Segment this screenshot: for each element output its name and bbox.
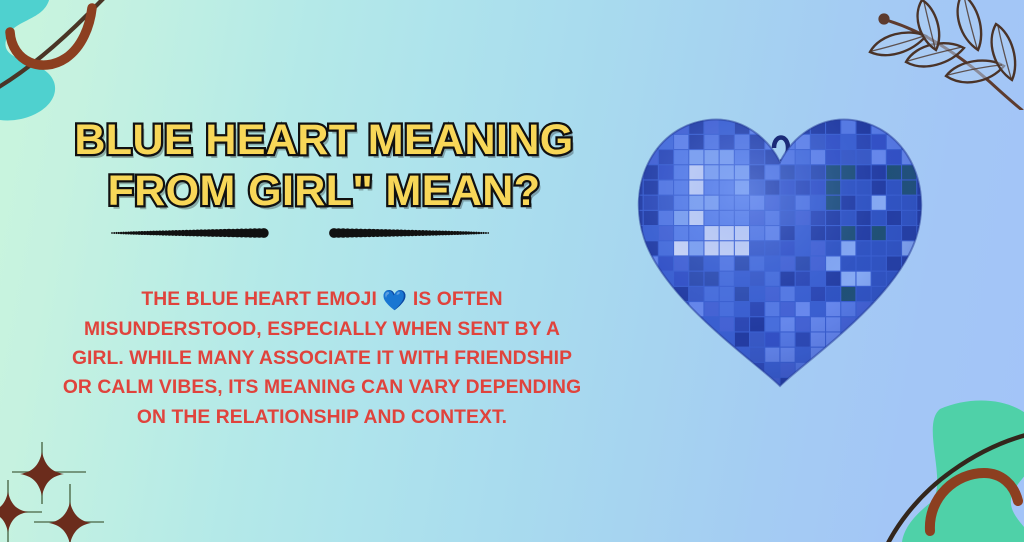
mosaic-tile xyxy=(629,105,643,119)
sparkle-shapes xyxy=(0,452,91,542)
mosaic-tile xyxy=(629,393,643,396)
heart-mosaic xyxy=(628,104,932,396)
mosaic-tile xyxy=(857,348,871,362)
brown-swoosh-thick xyxy=(10,8,92,65)
branch-stem xyxy=(886,20,1022,110)
mosaic-tile xyxy=(872,302,886,316)
sparkle-icon xyxy=(0,492,28,532)
mosaic-tile xyxy=(705,333,719,347)
mosaic-tile xyxy=(917,241,931,255)
mosaic-tile xyxy=(720,393,734,396)
mosaic-tile xyxy=(826,363,840,377)
mosaic-tile xyxy=(902,302,916,316)
mosaic-tile xyxy=(674,348,688,362)
mosaic-tile xyxy=(872,378,886,392)
mosaic-tile xyxy=(841,333,855,347)
mosaic-tile xyxy=(857,378,871,392)
mosaic-tile xyxy=(644,135,658,149)
mosaic-tile xyxy=(689,378,703,392)
mosaic-tile xyxy=(902,393,916,396)
mosaic-tile xyxy=(644,348,658,362)
decoration-bottom-right xyxy=(844,391,1024,542)
mosaic-tile xyxy=(735,363,749,377)
mosaic-tile xyxy=(796,105,810,119)
mosaic-tile xyxy=(629,302,643,316)
mosaic-tile xyxy=(659,333,673,347)
branch-leaves xyxy=(870,0,1015,82)
mosaic-tile xyxy=(902,378,916,392)
body-paragraph: THE BLUE HEART EMOJI 💙 IS OFTEN MISUNDER… xyxy=(62,285,582,432)
mosaic-tile xyxy=(917,105,931,119)
teal-blob-shape xyxy=(902,400,1024,542)
page-title: BLUE HEART MEANING FROM GIRL" MEAN? xyxy=(54,115,594,218)
mosaic-tile xyxy=(902,348,916,362)
mosaic-tile xyxy=(659,378,673,392)
divider-dots xyxy=(111,228,489,238)
mosaic-tile xyxy=(629,317,643,331)
mosaic-tile xyxy=(659,287,673,301)
mosaic-tile xyxy=(857,105,871,119)
mosaic-tile xyxy=(841,378,855,392)
mosaic-tile xyxy=(917,333,931,347)
mosaic-tile xyxy=(689,105,703,119)
mosaic-tile xyxy=(902,333,916,347)
mosaic-tile xyxy=(917,165,931,179)
mosaic-tile xyxy=(659,363,673,377)
mosaic-tile xyxy=(629,348,643,362)
mosaic-tile xyxy=(750,378,764,392)
branch-tip-dot xyxy=(878,13,889,24)
mosaic-tile xyxy=(872,393,886,396)
mosaic-tile xyxy=(917,348,931,362)
mosaic-tile xyxy=(872,363,886,377)
mosaic-tile xyxy=(872,317,886,331)
mosaic-tile xyxy=(765,105,779,119)
poster-canvas: BLUE HEART MEANING FROM GIRL" MEAN? THE … xyxy=(0,0,1024,542)
brown-swoosh-thin xyxy=(0,0,136,102)
mosaic-tile xyxy=(887,393,901,396)
mosaic-tile xyxy=(902,105,916,119)
mosaic-tile xyxy=(629,363,643,377)
mosaic-tile xyxy=(644,363,658,377)
mosaic-tile xyxy=(659,393,673,396)
mosaic-tile xyxy=(644,393,658,396)
mosaic-tile xyxy=(659,302,673,316)
mosaic-tile xyxy=(689,393,703,396)
blue-heart-emoji: 💙 xyxy=(382,291,407,311)
mosaic-tile xyxy=(674,378,688,392)
mosaic-tile xyxy=(705,348,719,362)
mosaic-tile xyxy=(917,135,931,149)
mosaic-tile xyxy=(629,135,643,149)
mosaic-tile xyxy=(841,348,855,362)
mosaic-tile xyxy=(796,378,810,392)
mosaic-tile xyxy=(644,120,658,134)
mosaic-tile xyxy=(674,317,688,331)
mosaic-tile xyxy=(629,150,643,164)
mosaic-tile xyxy=(811,378,825,392)
mosaic-tile xyxy=(917,150,931,164)
mosaic-tile xyxy=(735,105,749,119)
mosaic-tile xyxy=(644,378,658,392)
mosaic-tile xyxy=(735,378,749,392)
mosaic-tile xyxy=(841,105,855,119)
mosaic-tile xyxy=(902,272,916,286)
mosaic-tile xyxy=(826,105,840,119)
brown-swoosh-thick xyxy=(930,473,1018,531)
mosaic-tile xyxy=(917,120,931,134)
mosaic-tile xyxy=(735,393,749,396)
mosaic-tile xyxy=(841,363,855,377)
mosaic-tile xyxy=(902,317,916,331)
mosaic-tile xyxy=(887,302,901,316)
mosaic-tile xyxy=(765,120,779,134)
mosaic-tile xyxy=(674,333,688,347)
mosaic-tile xyxy=(750,105,764,119)
mosaic-tile xyxy=(629,333,643,347)
mosaic-tile xyxy=(705,393,719,396)
mosaic-tile xyxy=(781,393,795,396)
mosaic-tile xyxy=(872,348,886,362)
mosaic-tile xyxy=(689,333,703,347)
mosaic-tile xyxy=(902,135,916,149)
mosaic-tile xyxy=(887,317,901,331)
mosaic-tile xyxy=(841,393,855,396)
mosaic-tile xyxy=(902,363,916,377)
mosaic-tile xyxy=(644,333,658,347)
mosaic-tile xyxy=(629,272,643,286)
mosaic-tile xyxy=(674,302,688,316)
mosaic-tile xyxy=(826,378,840,392)
mosaic-tile xyxy=(659,317,673,331)
mosaic-tile xyxy=(629,257,643,271)
mosaic-tile xyxy=(811,105,825,119)
mosaic-tile xyxy=(857,363,871,377)
mosaic-tile xyxy=(917,363,931,377)
mosaic-tile xyxy=(796,393,810,396)
body-text-before: THE BLUE HEART EMOJI xyxy=(141,289,382,310)
mosaic-tile xyxy=(917,378,931,392)
mosaic-tile xyxy=(917,257,931,271)
mosaic-tile xyxy=(629,287,643,301)
mosaic-tile xyxy=(659,348,673,362)
mosaic-tile xyxy=(887,333,901,347)
mosaic-tile xyxy=(720,363,734,377)
mosaic-tile xyxy=(887,105,901,119)
mosaic-tile xyxy=(689,317,703,331)
mosaic-tile xyxy=(811,393,825,396)
mosaic-tile xyxy=(872,333,886,347)
mosaic-tile xyxy=(765,393,779,396)
mosaic-tile xyxy=(857,333,871,347)
mosaic-tile xyxy=(705,378,719,392)
decoration-top-right xyxy=(850,0,1024,110)
leaf-veins xyxy=(872,0,1011,78)
mosaic-tile xyxy=(887,348,901,362)
mosaic-tile xyxy=(750,393,764,396)
mosaic-tile xyxy=(811,363,825,377)
mosaic-tile xyxy=(674,393,688,396)
divider xyxy=(110,220,530,246)
brown-swoosh-thin xyxy=(880,433,1024,542)
mosaic-tile xyxy=(720,348,734,362)
mosaic-tile xyxy=(857,393,871,396)
mosaic-tile xyxy=(781,105,795,119)
blue-disco-ball-heart xyxy=(628,104,932,396)
decoration-bottom-left xyxy=(0,428,154,542)
mosaic-tile xyxy=(659,105,673,119)
mosaic-tile xyxy=(781,120,795,134)
mosaic-tile xyxy=(917,302,931,316)
mosaic-tile xyxy=(720,105,734,119)
mosaic-tile xyxy=(705,105,719,119)
mosaic-tile xyxy=(659,120,673,134)
mosaic-tile xyxy=(887,363,901,377)
mosaic-tile xyxy=(629,165,643,179)
teal-blob-shape xyxy=(0,0,55,120)
mosaic-tile xyxy=(917,393,931,396)
mosaic-tile xyxy=(629,120,643,134)
sparkle-icon xyxy=(49,502,91,542)
sparkle-icon xyxy=(20,452,64,496)
mosaic-tile xyxy=(644,287,658,301)
mosaic-tile xyxy=(902,120,916,134)
mosaic-tile xyxy=(629,378,643,392)
mosaic-tile xyxy=(872,105,886,119)
mosaic-tile xyxy=(887,378,901,392)
mosaic-tile xyxy=(917,317,931,331)
mosaic-tile xyxy=(917,287,931,301)
mosaic-tile xyxy=(689,363,703,377)
sparkle-lines xyxy=(0,442,104,542)
mosaic-tile xyxy=(644,317,658,331)
mosaic-tile xyxy=(644,105,658,119)
mosaic-tile xyxy=(705,363,719,377)
mosaic-tile xyxy=(857,317,871,331)
mosaic-tile xyxy=(887,120,901,134)
mosaic-tile xyxy=(689,348,703,362)
mosaic-tile xyxy=(644,272,658,286)
mosaic-tile xyxy=(629,241,643,255)
mosaic-tile xyxy=(826,393,840,396)
mosaic-tile xyxy=(917,272,931,286)
mosaic-tile xyxy=(674,363,688,377)
mosaic-tile xyxy=(720,378,734,392)
mosaic-tile xyxy=(902,287,916,301)
mosaic-tile xyxy=(674,105,688,119)
mosaic-tile xyxy=(644,302,658,316)
mosaic-tile xyxy=(887,287,901,301)
mosaic-tile xyxy=(826,348,840,362)
